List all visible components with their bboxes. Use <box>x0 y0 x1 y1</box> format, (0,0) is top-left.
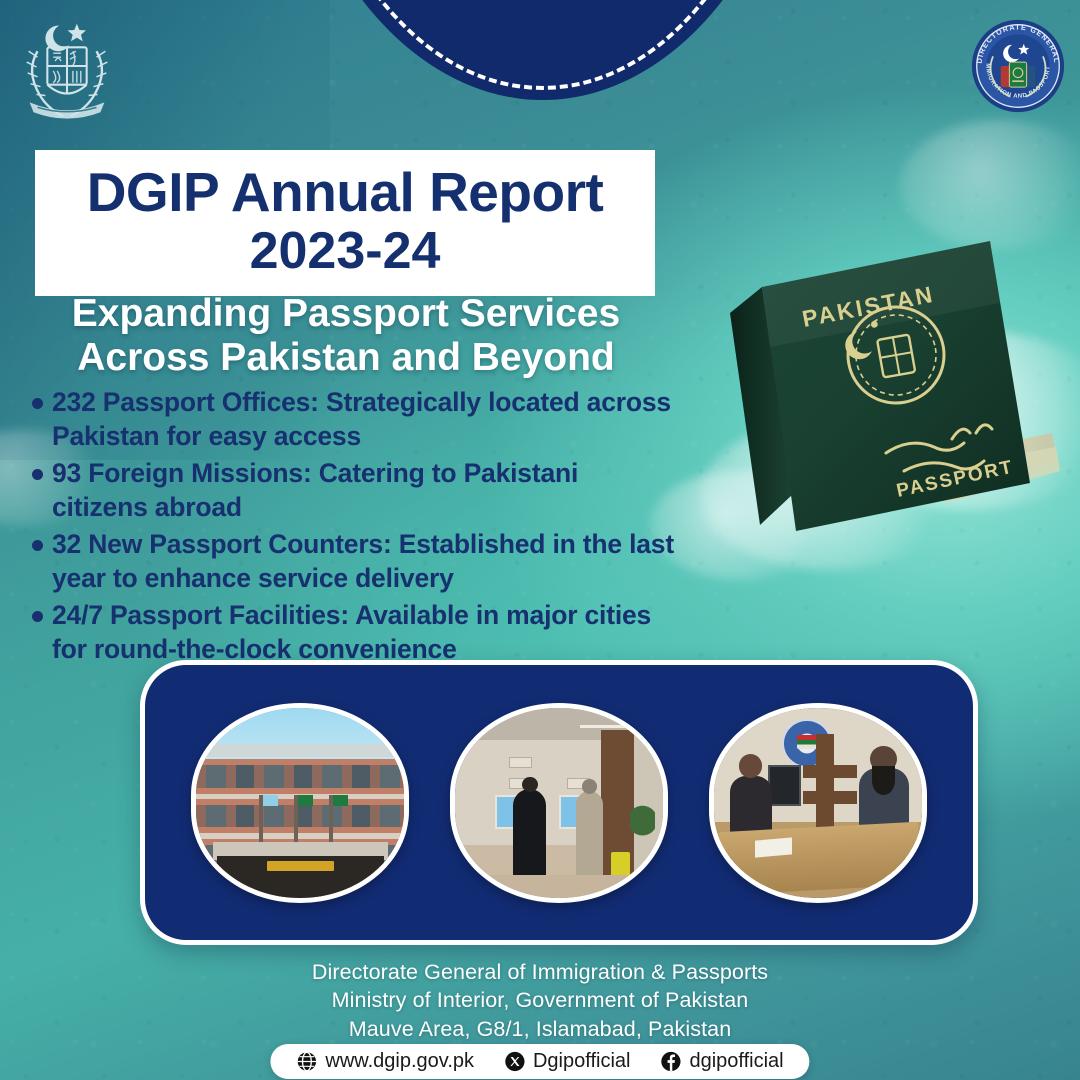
facebook-icon <box>660 1051 681 1072</box>
list-item-label: 93 Foreign Missions: Catering to Pakista… <box>52 456 680 525</box>
facebook-label: dgipofficial <box>689 1050 783 1073</box>
page-subtitle: Expanding Passport Services Across Pakis… <box>38 292 654 381</box>
page-title-line1: DGIP Annual Report <box>53 164 637 222</box>
dgip-logo: DIRECTORATE GENERAL IMMIGRATION AND PASS… <box>970 18 1066 114</box>
bullet-dot-icon <box>32 540 43 551</box>
x-twitter-link[interactable]: Dgipofficial <box>504 1050 630 1073</box>
social-links-bar: www.dgip.gov.pk Dgipofficial dgipofficia… <box>270 1044 809 1079</box>
footer-ministry: Ministry of Interior, Government of Paki… <box>0 986 1080 1014</box>
infographic-poster: PAKISTAN PASSPORT <box>0 0 1080 1080</box>
website-label: www.dgip.gov.pk <box>325 1050 474 1073</box>
footer-address: Mauve Area, G8/1, Islamabad, Pakistan <box>0 1015 1080 1043</box>
facebook-link[interactable]: dgipofficial <box>660 1050 783 1073</box>
highlights-list: 232 Passport Offices: Strategically loca… <box>32 385 680 669</box>
pakistan-passport-image: PAKISTAN PASSPORT <box>700 195 1060 585</box>
x-twitter-icon <box>504 1051 525 1072</box>
list-item-label: 232 Passport Offices: Strategically loca… <box>52 385 680 454</box>
list-item: 24/7 Passport Facilities: Available in m… <box>32 598 680 667</box>
bullet-dot-icon <box>32 469 43 480</box>
list-item: 232 Passport Offices: Strategically loca… <box>32 385 680 454</box>
bullet-dot-icon <box>32 611 43 622</box>
list-item-label: 24/7 Passport Facilities: Available in m… <box>52 598 680 667</box>
title-card: DGIP Annual Report 2023-24 <box>35 150 655 296</box>
photo-gallery-panel <box>140 660 978 945</box>
list-item-label: 32 New Passport Counters: Established in… <box>52 527 680 596</box>
bullet-dot-icon <box>32 398 43 409</box>
list-item: 93 Foreign Missions: Catering to Pakista… <box>32 456 680 525</box>
footer-org-name: Directorate General of Immigration & Pas… <box>0 958 1080 986</box>
x-twitter-label: Dgipofficial <box>533 1050 630 1073</box>
globe-icon <box>296 1051 317 1072</box>
photo-passport-office-building <box>191 703 409 903</box>
photo-service-counter <box>709 703 927 903</box>
pakistan-state-emblem <box>6 8 128 126</box>
page-title-line2: 2023-24 <box>53 222 637 280</box>
list-item: 32 New Passport Counters: Established in… <box>32 527 680 596</box>
website-link[interactable]: www.dgip.gov.pk <box>296 1050 474 1073</box>
photo-self-service-kiosks <box>450 703 668 903</box>
